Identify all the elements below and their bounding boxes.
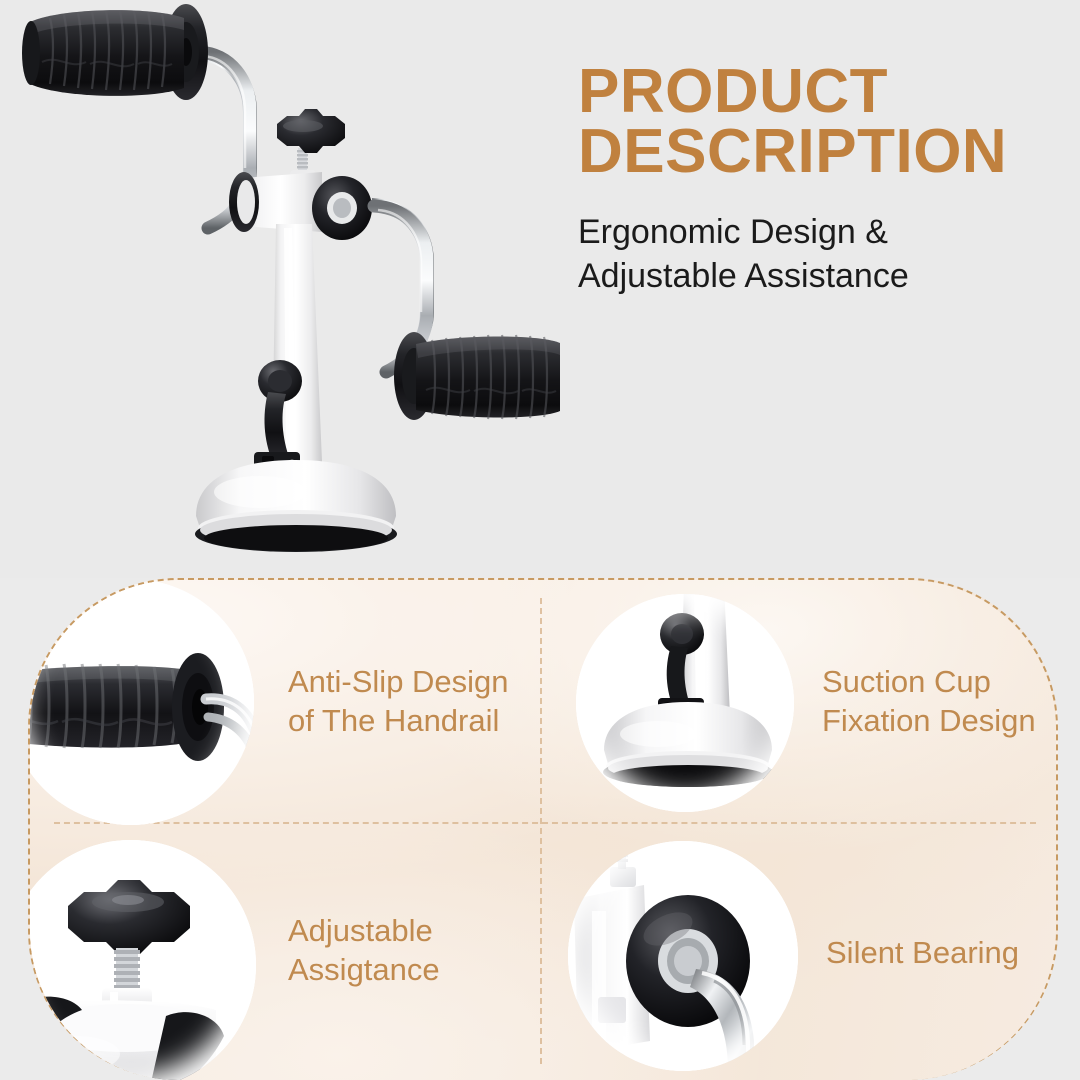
product-image [0, 0, 560, 570]
page-title-line2: DESCRIPTION [578, 117, 1007, 186]
bearing-wheel-closeup-photo [568, 841, 798, 1071]
suction-cup-base-closeup-photo [576, 594, 794, 812]
hero-text-block: PRODUCT DESCRIPTION Ergonomic Design & A… [578, 62, 1058, 298]
feature-item-anti-slip-handrail[interactable]: Anti-Slip Design of The Handrail [30, 580, 540, 822]
hero-section: PRODUCT DESCRIPTION Ergonomic Design & A… [0, 0, 1080, 578]
feature-label-adjustable-assistance: Adjustable Assigtance [288, 911, 440, 989]
feature-item-adjustable-assistance[interactable]: Adjustable Assigtance [30, 824, 540, 1080]
feature-label-silent-bearing: Silent Bearing [826, 933, 1019, 972]
feature-label-suction-cup-fixation: Suction Cup Fixation Design [822, 662, 1036, 740]
adjustment-knob-closeup-photo [28, 840, 256, 1080]
feature-label-anti-slip-handrail: Anti-Slip Design of The Handrail [288, 662, 509, 740]
handrail-grip-closeup-photo [28, 579, 254, 825]
page-title: PRODUCT DESCRIPTION [578, 62, 1058, 181]
page-subtitle: Ergonomic Design & Adjustable Assistance [578, 211, 1058, 298]
feature-item-silent-bearing[interactable]: Silent Bearing [542, 824, 1058, 1080]
page-subtitle-line2: Adjustable Assistance [578, 257, 909, 295]
feature-item-suction-cup-fixation[interactable]: Suction Cup Fixation Design [542, 580, 1058, 822]
page-subtitle-line1: Ergonomic Design & [578, 213, 888, 251]
feature-panel: Anti-Slip Design of The Handrail [28, 578, 1058, 1080]
